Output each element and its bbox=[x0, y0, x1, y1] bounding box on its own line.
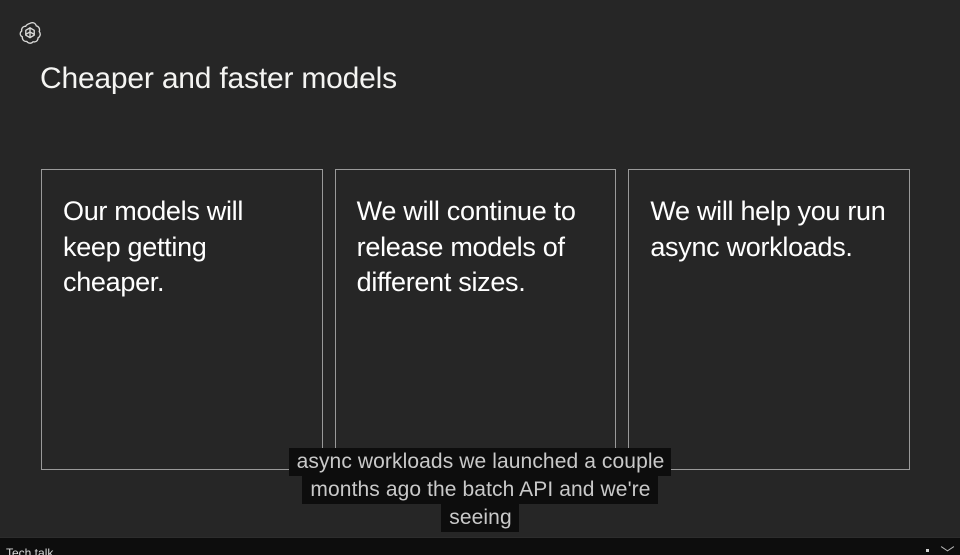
caption-line: months ago the batch API and we're bbox=[302, 476, 657, 504]
slide-title: Cheaper and faster models bbox=[40, 61, 397, 97]
chevron-down-icon[interactable] bbox=[941, 546, 954, 554]
presentation-slide[interactable]: Cheaper and faster models Our models wil… bbox=[0, 0, 960, 537]
slide-card-text: We will continue to release models of di… bbox=[357, 194, 596, 301]
slide-card: We will continue to release models of di… bbox=[335, 169, 617, 470]
slide-card-text: We will help you run async workloads. bbox=[650, 194, 889, 265]
slide-card-row: Our models will keep getting cheaper. We… bbox=[41, 169, 910, 470]
openai-logo-icon bbox=[17, 20, 43, 46]
player-bar-actions bbox=[926, 546, 954, 554]
video-player-stage: Cheaper and faster models Our models wil… bbox=[0, 0, 960, 555]
slide-card: We will help you run async workloads. bbox=[628, 169, 910, 470]
slide-card-text: Our models will keep getting cheaper. bbox=[63, 194, 302, 301]
slide-card: Our models will keep getting cheaper. bbox=[41, 169, 323, 470]
player-control-bar[interactable]: Tech talk bbox=[0, 537, 960, 555]
player-video-title: Tech talk bbox=[6, 546, 53, 555]
ellipsis-icon[interactable] bbox=[926, 549, 929, 552]
caption-line: seeing bbox=[441, 504, 518, 532]
